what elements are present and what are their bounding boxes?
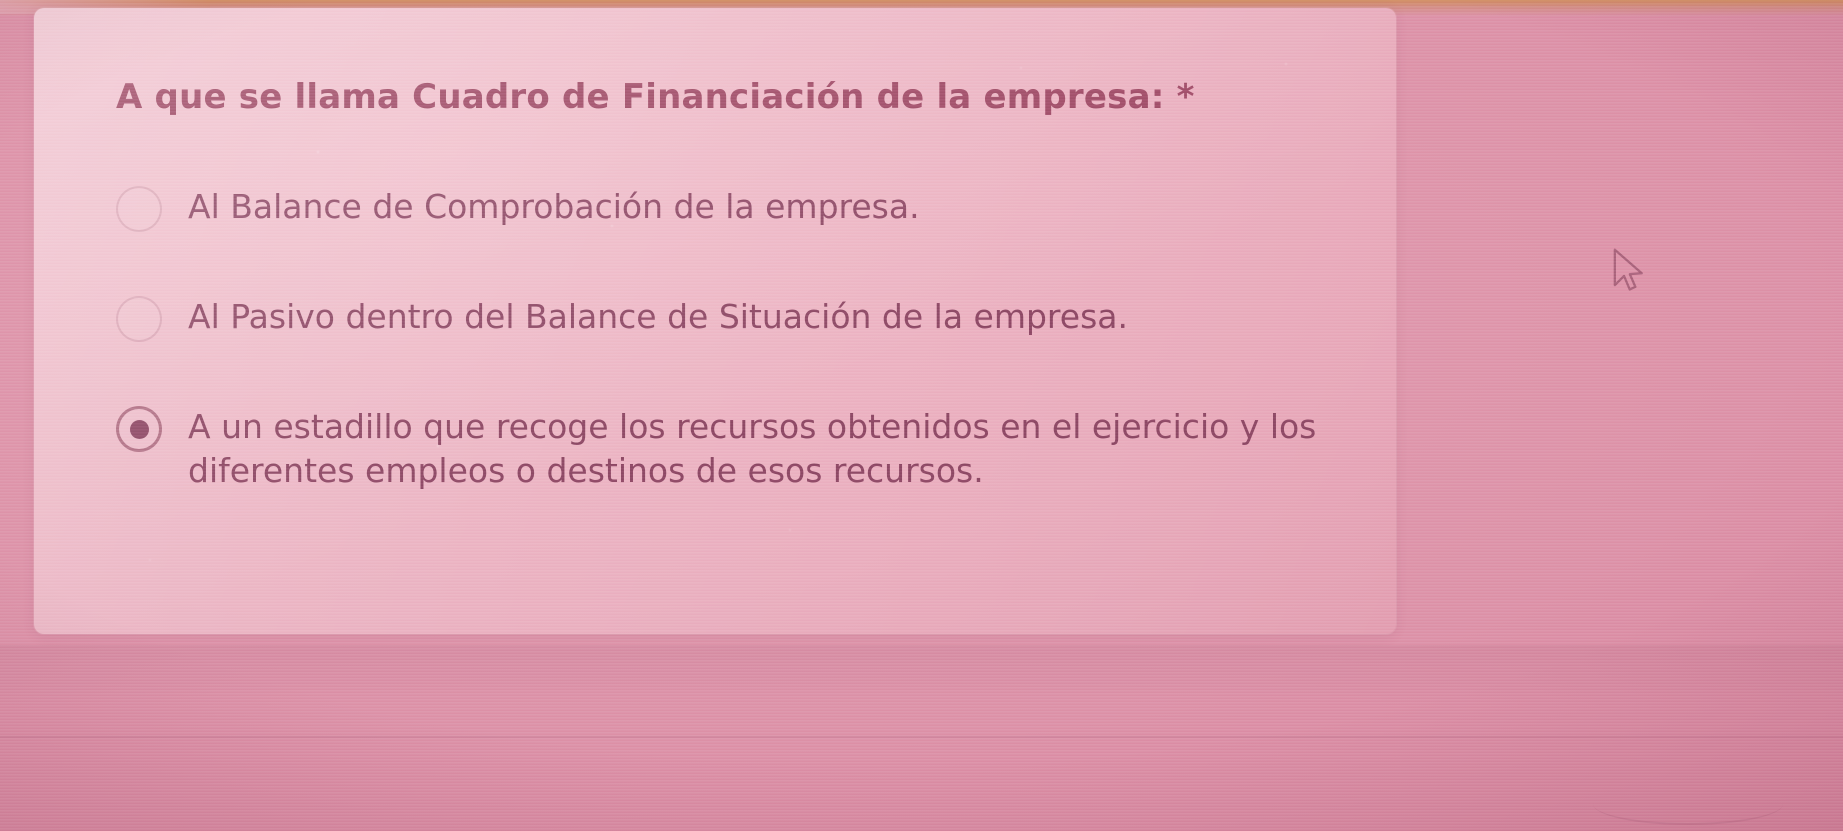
radio-button-selected-3[interactable] [116, 406, 162, 452]
radio-dot-icon [130, 420, 149, 439]
screen-photo: A que se llama Cuadro de Financiación de… [0, 0, 1843, 831]
question-card: A que se llama Cuadro de Financiación de… [34, 8, 1396, 634]
option-row-3[interactable]: A un estadillo que recoge los recursos o… [116, 404, 1356, 492]
option-row-1[interactable]: Al Balance de Comprobación de la empresa… [116, 184, 1356, 232]
radio-button-unselected-1[interactable] [116, 186, 162, 232]
question-title-text: A que se llama Cuadro de Financiación de… [116, 77, 1165, 117]
option-label-2: Al Pasivo dentro del Balance de Situació… [188, 294, 1128, 339]
option-row-2[interactable]: Al Pasivo dentro del Balance de Situació… [116, 294, 1356, 342]
option-label-1: Al Balance de Comprobación de la empresa… [188, 184, 920, 229]
required-asterisk: * [1177, 77, 1195, 117]
radio-button-unselected-2[interactable] [116, 296, 162, 342]
question-title: A que se llama Cuadro de Financiación de… [116, 76, 1316, 119]
question-card-inner: A que se llama Cuadro de Financiación de… [34, 8, 1396, 634]
option-label-3: A un estadillo que recoge los recursos o… [188, 404, 1318, 492]
